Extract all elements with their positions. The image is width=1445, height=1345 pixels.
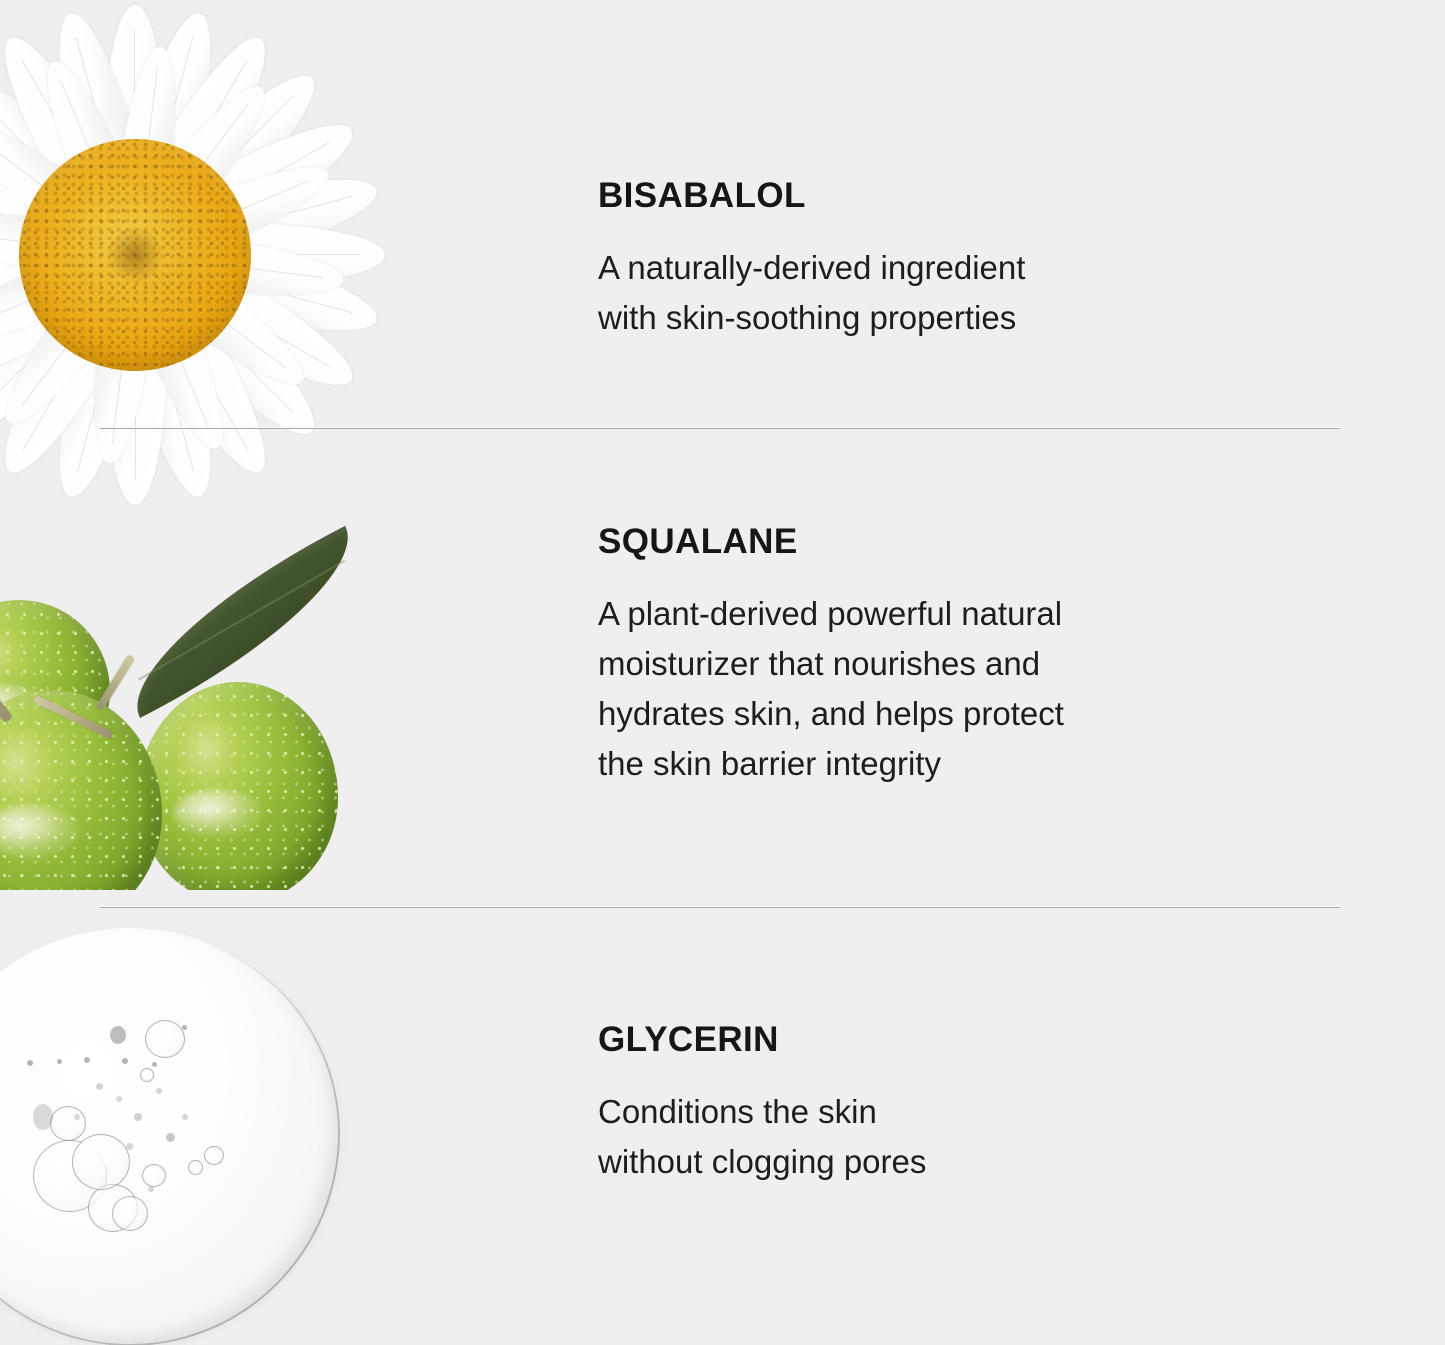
section-copy-glycerin: GLYCERIN Conditions the skin without clo… <box>598 1022 926 1187</box>
daisy-center-disc <box>19 139 251 371</box>
ingredient-name-squalane: SQUALANE <box>598 524 1064 559</box>
gel-droplet-image <box>0 928 360 1345</box>
ingredient-description-bisabalol: A naturally-derived ingredient with skin… <box>598 243 1025 343</box>
section-divider <box>100 428 1340 429</box>
ingredient-name-bisabalol: BISABALOL <box>598 178 1025 213</box>
section-divider <box>100 907 1340 908</box>
gel-droplet-body <box>0 928 340 1345</box>
gel-droplet-rim <box>0 928 340 1345</box>
olive-fruit <box>138 682 338 890</box>
green-olives-image <box>0 450 440 890</box>
ingredient-benefits-page: BISABALOL A naturally-derived ingredient… <box>0 0 1445 1345</box>
ingredient-description-squalane: A plant-derived powerful natural moistur… <box>598 589 1064 789</box>
section-copy-bisabalol: BISABALOL A naturally-derived ingredient… <box>598 178 1025 343</box>
ingredient-name-glycerin: GLYCERIN <box>598 1022 926 1057</box>
ingredient-description-glycerin: Conditions the skin without clogging por… <box>598 1087 926 1187</box>
section-copy-squalane: SQUALANE A plant-derived powerful natura… <box>598 524 1064 789</box>
